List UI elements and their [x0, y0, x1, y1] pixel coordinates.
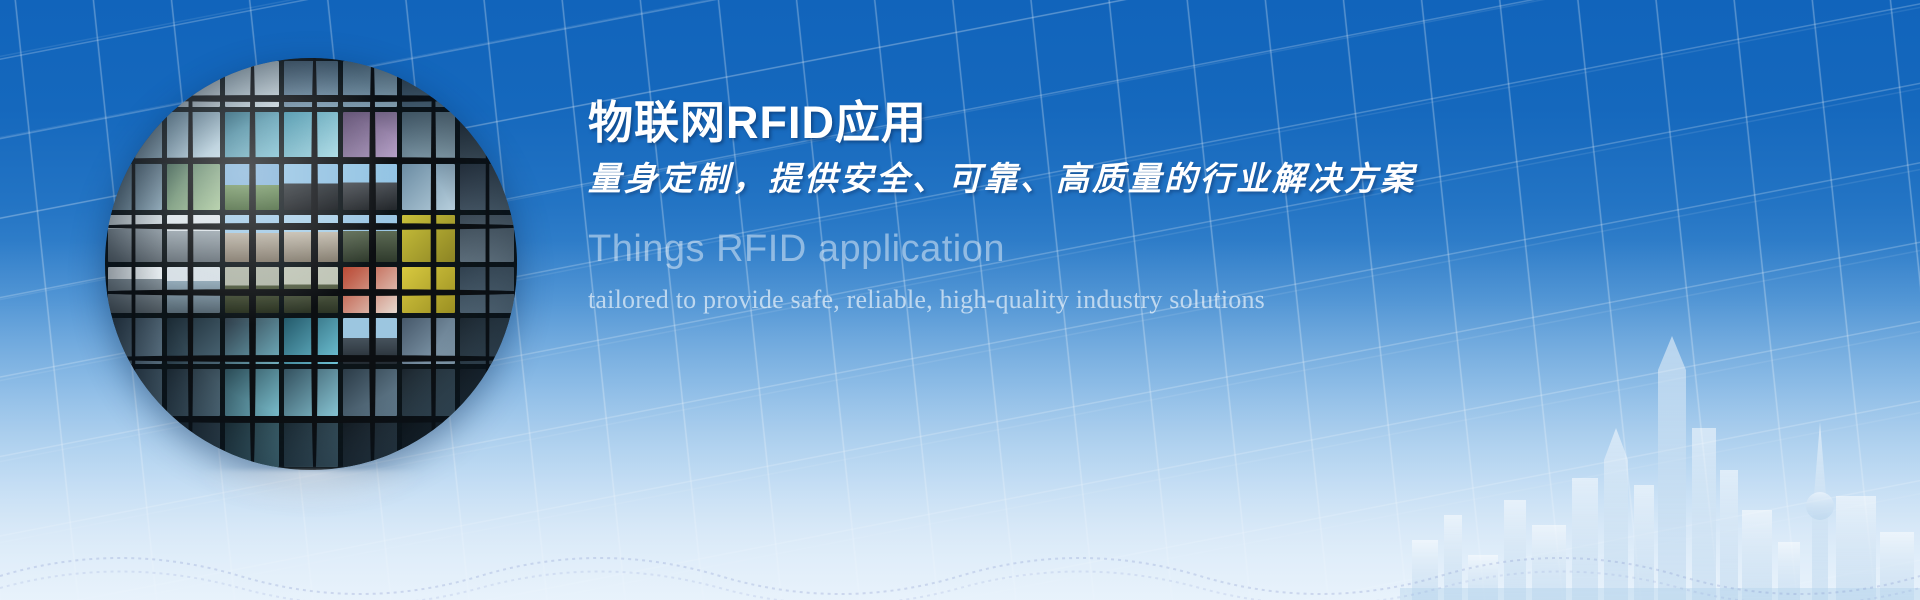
photo-mosaic-globe [105, 58, 517, 470]
banner-slogan-cn: 量身定制，提供安全、可靠、高质量的行业解决方案 [588, 161, 1888, 201]
globe-tiles [105, 58, 517, 470]
banner-slogan-en: tailored to provide safe, reliable, high… [588, 284, 1888, 317]
hero-banner: 物联网RFID应用 量身定制，提供安全、可靠、高质量的行业解决方案 Things… [0, 0, 1920, 600]
banner-title-en: Things RFID application [588, 227, 1888, 273]
banner-copy: 物联网RFID应用 量身定制，提供安全、可靠、高质量的行业解决方案 Things… [588, 96, 1888, 317]
banner-title-cn: 物联网RFID应用 [588, 96, 1888, 149]
globe-graphic [105, 58, 517, 470]
